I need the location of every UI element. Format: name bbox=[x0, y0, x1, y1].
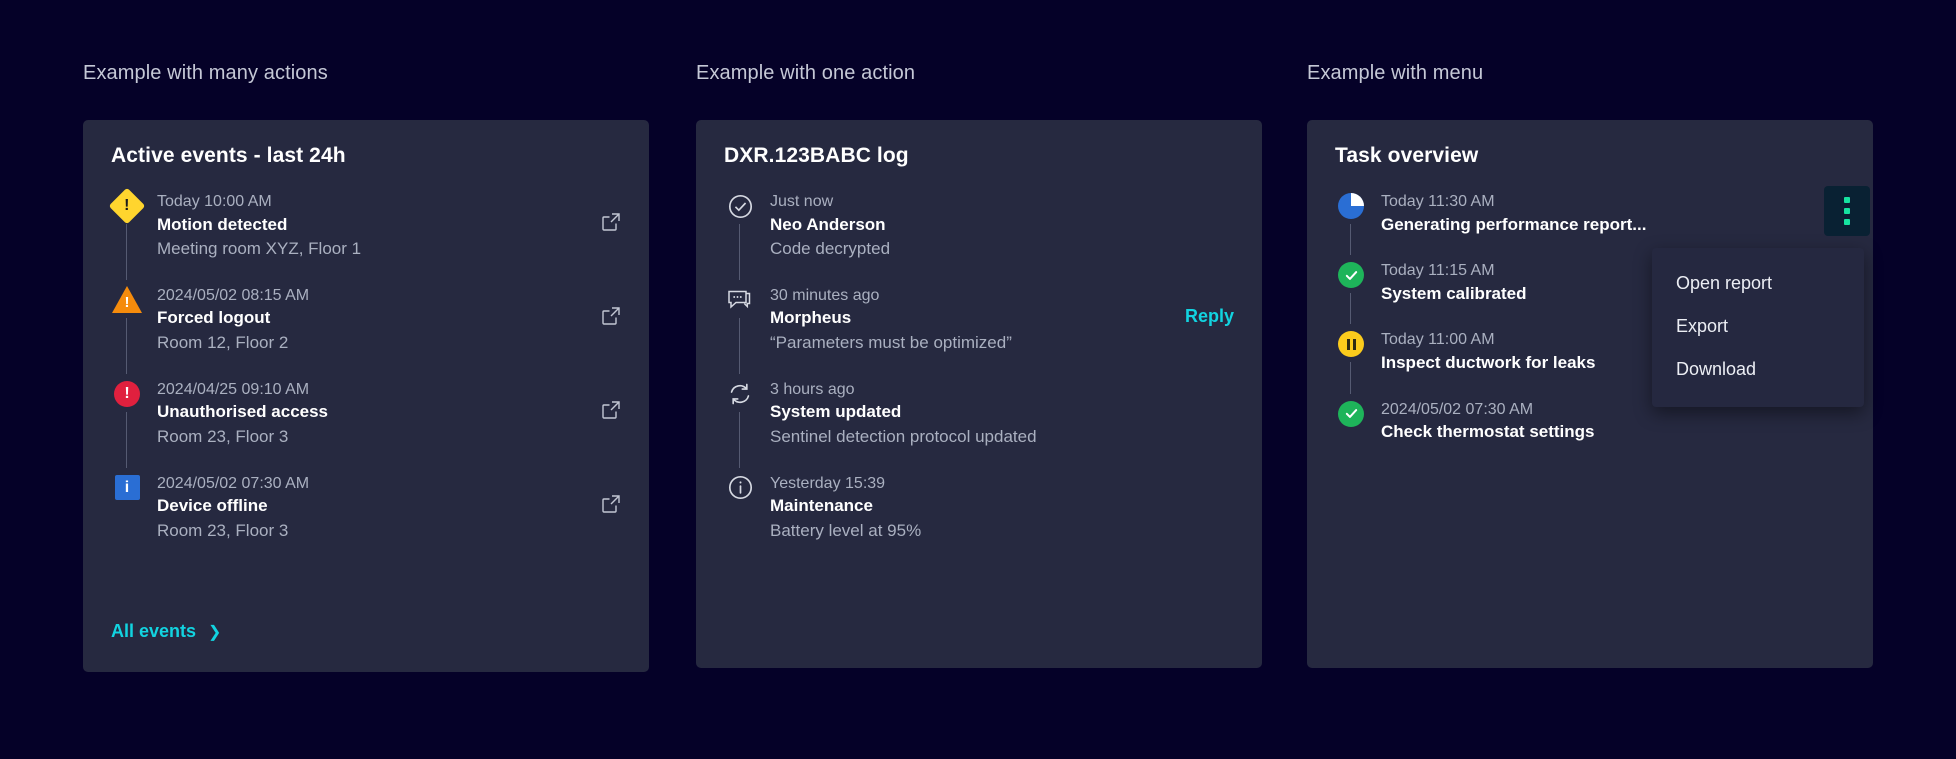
menu-item-open-report[interactable]: Open report bbox=[1652, 262, 1864, 305]
chat-bubble-icon bbox=[724, 284, 756, 316]
card-device-log: DXR.123BABC log Just now Neo Anderson Co… bbox=[696, 120, 1262, 668]
list-item-body: 2024/05/02 08:15 AM Forced logout Room 1… bbox=[157, 284, 589, 356]
task-title: Generating performance report... bbox=[1381, 213, 1845, 238]
info-circle-outline-icon bbox=[724, 472, 756, 504]
list-item-body: Today 10:00 AM Motion detected Meeting r… bbox=[157, 190, 589, 262]
timeline-active-events: ! Today 10:00 AM Motion detected Meeting… bbox=[111, 190, 621, 544]
section-heading-menu: Example with menu bbox=[1307, 62, 1483, 85]
log-desc: “Parameters must be optimized” bbox=[770, 331, 1173, 356]
card-title-task-overview: Task overview bbox=[1335, 144, 1845, 168]
warning-triangle-icon: ! bbox=[111, 284, 143, 316]
card-active-events: Active events - last 24h ! Today 10:00 A… bbox=[83, 120, 649, 672]
list-item[interactable]: ! Today 10:00 AM Motion detected Meeting… bbox=[111, 190, 621, 284]
log-title: Neo Anderson bbox=[770, 213, 1234, 238]
list-item-body: Just now Neo Anderson Code decrypted bbox=[770, 190, 1234, 262]
timeline-connector bbox=[739, 412, 740, 468]
event-time: 2024/05/02 08:15 AM bbox=[157, 285, 589, 307]
section-heading-many-actions: Example with many actions bbox=[83, 62, 328, 85]
info-square-glyph: i bbox=[125, 480, 129, 496]
log-time: Just now bbox=[770, 191, 1234, 213]
list-item[interactable]: 30 minutes ago Morpheus “Parameters must… bbox=[724, 284, 1234, 378]
list-item-body: 3 hours ago System updated Sentinel dete… bbox=[770, 378, 1234, 450]
list-item-body: 30 minutes ago Morpheus “Parameters must… bbox=[770, 284, 1173, 356]
list-item[interactable]: ! 2024/05/02 08:15 AM Forced logout Room… bbox=[111, 284, 621, 378]
warning-diamond-icon: ! bbox=[111, 190, 143, 222]
warning-triangle-glyph: ! bbox=[125, 295, 130, 310]
timeline-connector bbox=[126, 224, 127, 280]
log-title: System updated bbox=[770, 400, 1234, 425]
card-task-overview: Task overview Today 11:30 AM Generating … bbox=[1307, 120, 1873, 668]
timeline-connector bbox=[739, 318, 740, 374]
check-circle-outline-icon bbox=[724, 190, 756, 222]
event-location: Room 12, Floor 2 bbox=[157, 331, 589, 356]
list-item-body: Today 11:30 AM Generating performance re… bbox=[1381, 190, 1845, 237]
list-item-action bbox=[601, 190, 621, 232]
open-external-icon[interactable] bbox=[601, 306, 621, 326]
all-events-link[interactable]: All events ❯ bbox=[111, 621, 221, 642]
sync-refresh-icon bbox=[724, 378, 756, 410]
list-item-action bbox=[601, 284, 621, 326]
open-external-icon[interactable] bbox=[601, 400, 621, 420]
log-desc: Sentinel detection protocol updated bbox=[770, 425, 1234, 450]
all-events-label: All events bbox=[111, 621, 196, 642]
log-desc: Code decrypted bbox=[770, 237, 1234, 262]
timeline-connector bbox=[1350, 362, 1351, 393]
list-item[interactable]: Just now Neo Anderson Code decrypted bbox=[724, 190, 1234, 284]
list-item[interactable]: i 2024/05/02 07:30 AM Device offline Roo… bbox=[111, 472, 621, 544]
list-item-action bbox=[601, 378, 621, 420]
list-item[interactable]: ! 2024/04/25 09:10 AM Unauthorised acces… bbox=[111, 378, 621, 472]
check-circle-filled-icon bbox=[1335, 398, 1367, 430]
error-circle-icon: ! bbox=[111, 378, 143, 410]
log-desc: Battery level at 95% bbox=[770, 519, 1234, 544]
reply-button[interactable]: Reply bbox=[1185, 306, 1234, 327]
open-external-icon[interactable] bbox=[601, 212, 621, 232]
timeline-device-log: Just now Neo Anderson Code decrypted bbox=[724, 190, 1234, 544]
log-title: Maintenance bbox=[770, 494, 1234, 519]
event-location: Room 23, Floor 3 bbox=[157, 519, 589, 544]
section-heading-one-action: Example with one action bbox=[696, 62, 915, 85]
pause-circle-icon bbox=[1335, 328, 1367, 360]
timeline-connector bbox=[1350, 224, 1351, 255]
event-time: 2024/04/25 09:10 AM bbox=[157, 379, 589, 401]
task-title: Check thermostat settings bbox=[1381, 420, 1845, 445]
list-item[interactable]: 3 hours ago System updated Sentinel dete… bbox=[724, 378, 1234, 472]
event-location: Meeting room XYZ, Floor 1 bbox=[157, 237, 589, 262]
warning-diamond-glyph: ! bbox=[124, 198, 129, 214]
event-location: Room 23, Floor 3 bbox=[157, 425, 589, 450]
list-item-body: 2024/04/25 09:10 AM Unauthorised access … bbox=[157, 378, 589, 450]
list-item[interactable]: Yesterday 15:39 Maintenance Battery leve… bbox=[724, 472, 1234, 544]
chevron-right-icon: ❯ bbox=[208, 622, 221, 642]
list-item-action: Reply bbox=[1185, 284, 1234, 327]
event-title: Unauthorised access bbox=[157, 400, 589, 425]
error-circle-glyph: ! bbox=[124, 386, 129, 402]
timeline-connector bbox=[126, 412, 127, 468]
page-root: Example with many actions Active events … bbox=[0, 0, 1956, 759]
list-item-body: Yesterday 15:39 Maintenance Battery leve… bbox=[770, 472, 1234, 544]
progress-pie-icon bbox=[1335, 190, 1367, 222]
task-time: Today 11:30 AM bbox=[1381, 191, 1845, 213]
card-title-active-events: Active events - last 24h bbox=[111, 144, 621, 168]
timeline-connector bbox=[739, 224, 740, 280]
timeline-connector bbox=[126, 318, 127, 374]
menu-item-download[interactable]: Download bbox=[1652, 348, 1864, 391]
dropdown-menu: Open report Export Download bbox=[1652, 248, 1864, 407]
log-title: Morpheus bbox=[770, 306, 1173, 331]
check-circle-filled-icon bbox=[1335, 259, 1367, 291]
event-title: Motion detected bbox=[157, 213, 589, 238]
log-time: Yesterday 15:39 bbox=[770, 473, 1234, 495]
info-square-icon: i bbox=[111, 472, 143, 504]
card-title-device-log: DXR.123BABC log bbox=[724, 144, 1234, 168]
event-time: 2024/05/02 07:30 AM bbox=[157, 473, 589, 495]
event-title: Forced logout bbox=[157, 306, 589, 331]
menu-item-export[interactable]: Export bbox=[1652, 305, 1864, 348]
timeline-connector bbox=[1350, 293, 1351, 324]
list-item-body: 2024/05/02 07:30 AM Device offline Room … bbox=[157, 472, 589, 544]
more-vertical-icon[interactable] bbox=[1824, 186, 1870, 236]
log-time: 30 minutes ago bbox=[770, 285, 1173, 307]
log-time: 3 hours ago bbox=[770, 379, 1234, 401]
event-title: Device offline bbox=[157, 494, 589, 519]
event-time: Today 10:00 AM bbox=[157, 191, 589, 213]
open-external-icon[interactable] bbox=[601, 494, 621, 514]
list-item-action bbox=[601, 472, 621, 514]
